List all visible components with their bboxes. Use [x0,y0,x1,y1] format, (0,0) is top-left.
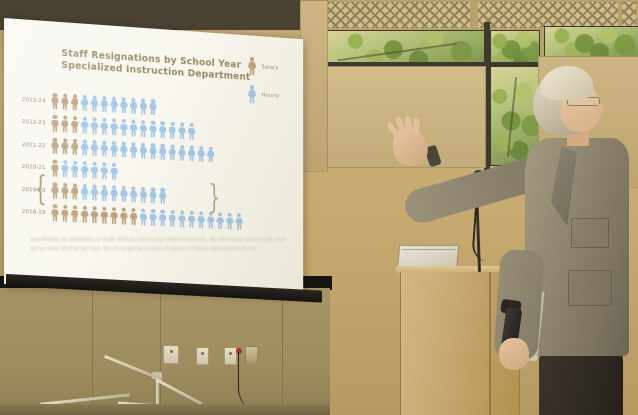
person-icon [129,186,138,203]
floor [0,404,330,415]
person-icon [226,213,234,230]
jacket-pocket [571,218,609,248]
person-icon [90,139,99,156]
person-icon [70,138,79,155]
person-icon [110,163,119,180]
person-icon [129,97,138,114]
outlet-dot [170,350,173,353]
person-icon [90,95,99,112]
outlet-dot [229,352,232,355]
person-icon [51,92,60,109]
person-icon [129,142,138,159]
person-icon [90,184,99,201]
person-icon [100,118,109,135]
lattice-transom-right [622,2,636,28]
person-icon [120,208,129,225]
person-icon [60,93,69,110]
lattice-transom-mid [478,2,618,28]
person-icon [247,57,256,76]
outlet-dot [201,352,204,355]
person-icon [100,140,109,157]
person-icon [168,122,177,139]
wall-seam [92,290,93,405]
person-icon [100,184,109,201]
person-icon [110,96,119,113]
person-icon [110,118,119,135]
presenter-hair-front [541,66,593,100]
person-icon [60,182,69,199]
person-icon [80,139,89,156]
window-glass-right [544,26,638,58]
person-icon [158,143,167,160]
person-icon [178,144,187,161]
person-icon [149,98,158,115]
person-icon [51,182,60,199]
person-icon [51,204,60,221]
person-icon [158,121,167,138]
person-icon [178,210,187,227]
person-icon [149,121,158,138]
person-icon [110,185,119,202]
person-icon [139,120,148,137]
pictogram-chart: 2023-242022-232021-222020-212019-202018-… [4,84,303,233]
person-icon [60,205,69,222]
person-icon [149,209,158,226]
person-icon [120,119,129,136]
finger [413,118,420,135]
presenter-hand-holding-mic [499,338,529,370]
caption-subtitle: specifically on attention of staff. And … [30,236,292,254]
presenter-nose [596,104,604,113]
person-icon [80,94,89,111]
grouping-brace-left: { [34,172,47,206]
presenter [505,60,638,415]
wall-seam [160,290,161,405]
person-icon [197,211,206,228]
legend-label-hourly: Hourly [261,92,279,99]
person-icon [235,213,243,230]
person-icon [139,142,148,159]
person-icon [70,183,79,200]
person-icon [120,97,129,114]
presentation-room-photo: Staff Resignations by School Year Specia… [0,0,638,415]
person-icon [168,144,177,161]
window-glass-left [326,30,486,66]
row-year-label: 2018-19 [4,208,51,221]
person-icon [168,210,177,227]
person-icon [129,208,138,225]
person-icon [80,161,89,178]
person-icon [60,138,69,155]
person-icon [70,205,79,222]
person-icon [206,146,215,163]
jacket-pocket [568,270,612,306]
person-icon [100,95,109,112]
grouping-brace-right: { [209,181,220,215]
caption-line2: we've seen that to be true. So we're goi… [30,245,292,254]
person-icon [60,115,69,132]
person-icon [70,161,79,178]
person-icon [110,207,119,224]
person-icon [158,209,167,226]
person-icon [149,187,158,204]
person-icon [80,183,89,200]
person-icon [139,98,148,115]
person-icon [100,207,109,224]
person-icon [100,162,109,179]
person-icon [187,123,196,140]
wall-plate [163,345,179,364]
person-icon [149,143,158,160]
person-icon [129,119,138,136]
person-icon [187,145,196,162]
person-icon [80,117,89,134]
caption-line1: specifically on attention of staff. And … [30,236,292,245]
slide-title: Staff Resignations by School Year Specia… [61,48,262,85]
person-icon [139,186,148,203]
person-icon [197,145,206,162]
person-icon [90,206,99,223]
person-icon [90,162,99,179]
lattice-transom-left [310,2,470,28]
person-icon [158,187,167,204]
podium-edge [489,272,491,415]
legend-item-salary: Salary [247,57,303,79]
person-icon [51,137,60,154]
person-icon [178,122,187,139]
person-icon [187,211,196,228]
person-icon [70,94,79,111]
legend-label-salary: Salary [261,64,278,71]
presenter-pants [539,350,623,415]
wall-seam [282,290,283,405]
outlet [196,347,209,365]
person-icon [70,116,79,133]
person-icon [120,185,129,202]
person-icon [51,159,60,176]
person-icon [110,140,119,157]
person-icon [120,141,129,158]
person-icon [60,160,69,177]
person-icon [51,115,60,132]
person-icon [139,208,148,225]
person-icon [90,117,99,134]
person-icon [80,206,89,223]
foliage-view [545,27,638,57]
foliage-view [327,31,485,65]
